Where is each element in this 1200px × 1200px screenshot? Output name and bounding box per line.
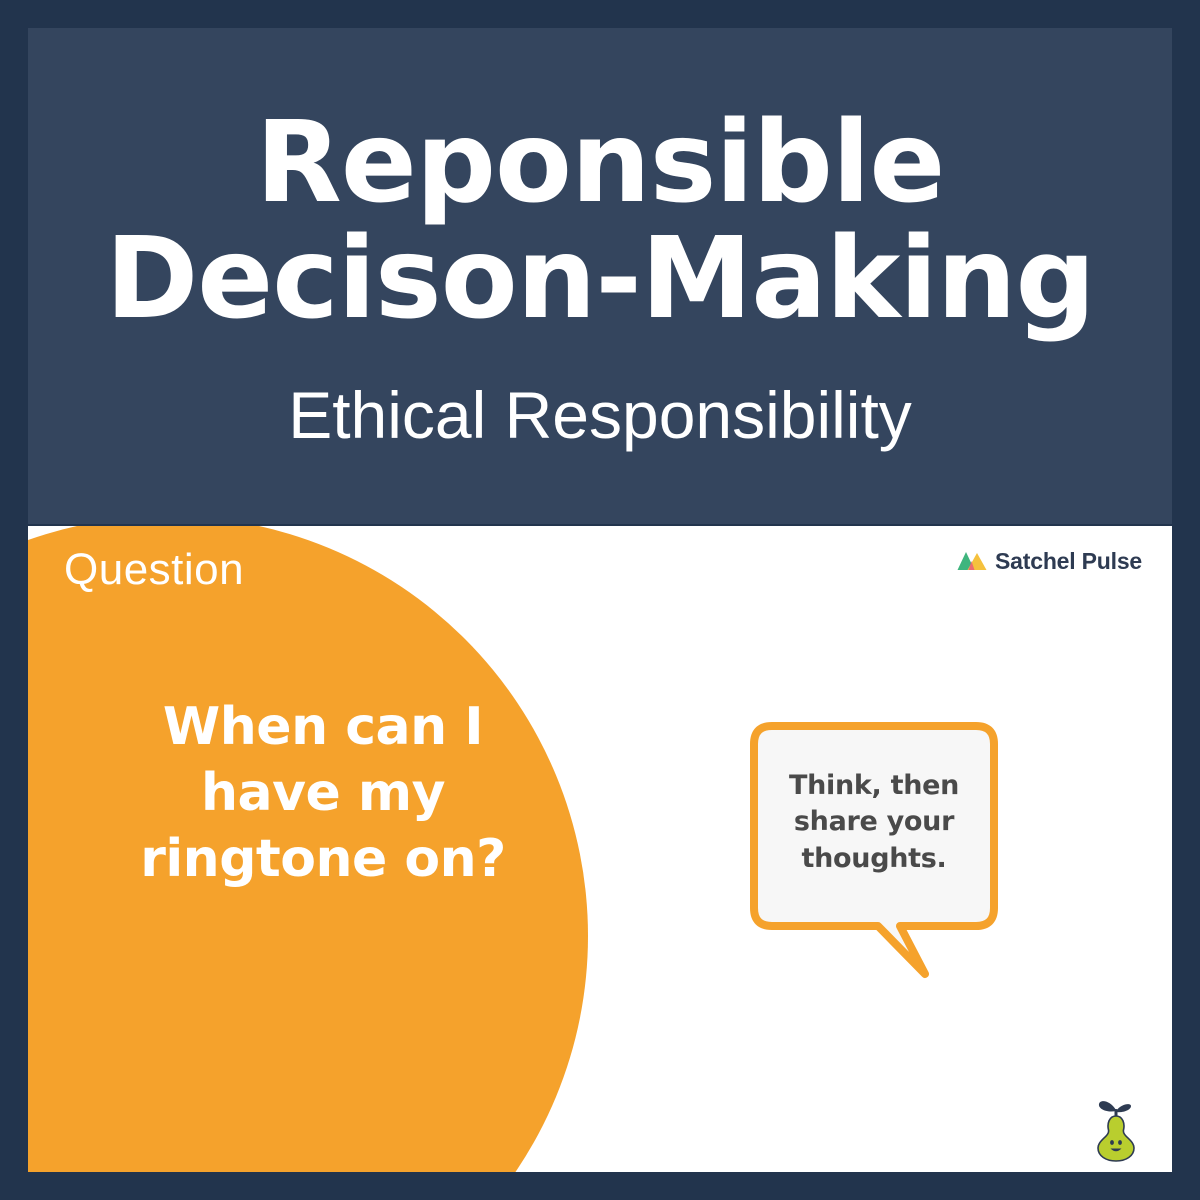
question-text: When can I have my ringtone on? <box>88 694 558 892</box>
slide-header: Reponsible Decison-Making Ethical Respon… <box>28 28 1172 524</box>
slide-body: Question When can I have my ringtone on?… <box>28 526 1172 1172</box>
slide-canvas: Reponsible Decison-Making Ethical Respon… <box>0 0 1200 1200</box>
satchel-pulse-mountains-icon <box>957 551 987 573</box>
page-title: Reponsible Decison-Making <box>70 106 1130 337</box>
prompt-speech-bubble: Think, then share your thoughts. <box>750 722 1010 987</box>
pear-mascot-icon <box>1088 1096 1144 1162</box>
page-subtitle: Ethical Responsibility <box>288 379 912 452</box>
prompt-bubble-text: Think, then share your thoughts. <box>768 768 980 877</box>
satchel-pulse-logo: Satchel Pulse <box>957 548 1142 575</box>
question-label: Question <box>64 548 244 592</box>
satchel-pulse-logo-text: Satchel Pulse <box>995 548 1142 575</box>
